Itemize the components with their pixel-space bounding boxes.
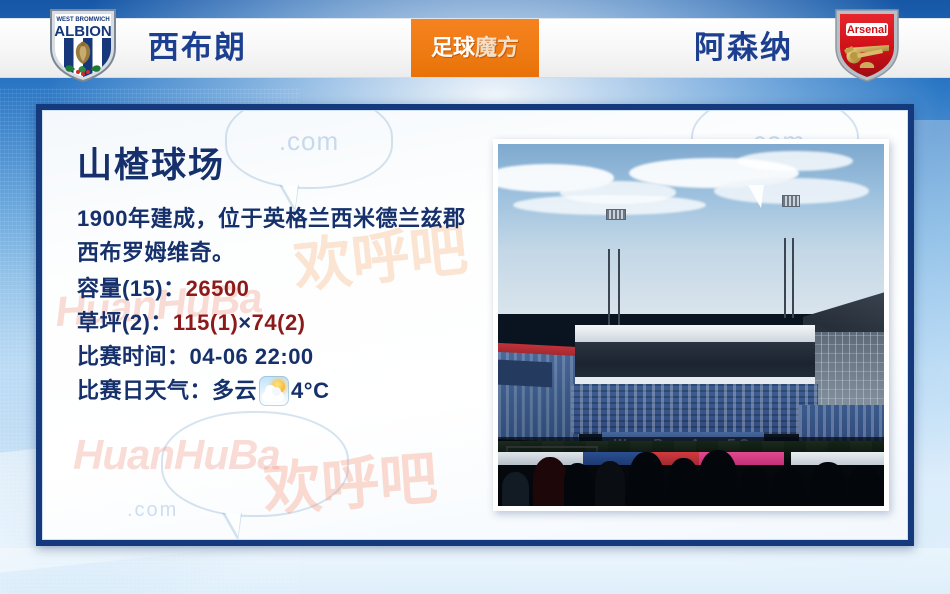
photo-left-stand-shadow: [498, 360, 552, 388]
kickoff-time-value: 04-06 22:00: [190, 344, 314, 369]
watermark-domain: .com: [127, 499, 178, 522]
floodlight-head: [782, 195, 800, 207]
spectator-silhouette: [741, 465, 768, 506]
pitch-size-row: 草坪(2)：115(1)×74(2): [77, 306, 477, 340]
photo-main-stand-shade: [575, 342, 814, 378]
floodlight-mast: [792, 238, 794, 318]
spectator-silhouette: [629, 452, 664, 506]
pitch-size-label: 草坪(2)：: [77, 310, 173, 335]
floodlight-mast: [608, 249, 610, 336]
pitch-size-separator: ×: [238, 310, 251, 335]
spectator-silhouette: [849, 466, 880, 506]
floodlight-mast: [618, 249, 620, 336]
site-logo-text-a: 足球: [431, 35, 475, 60]
match-header: WEST BROMWICH ALBION 西布朗 足球魔方 阿森纳: [0, 0, 950, 88]
arsenal-crest-icon[interactable]: Arsenal: [826, 4, 908, 84]
west-bromwich-albion-crest-icon[interactable]: WEST BROMWICH ALBION: [42, 4, 124, 84]
partly-cloudy-icon: [259, 376, 289, 406]
matchday-weather-row: 比赛日天气：多云4°C: [77, 374, 477, 408]
svg-text:ALBION: ALBION: [54, 23, 112, 40]
floodlight-head: [606, 209, 626, 220]
advertising-board: [791, 452, 884, 464]
photo-sky: [498, 144, 884, 314]
capacity-label: 容量(15)：: [77, 276, 186, 301]
site-logo[interactable]: 足球魔方: [411, 19, 539, 77]
weather-label: 比赛日天气：: [77, 374, 212, 408]
stadium-info-panel: .com .com HuanHuBa HuanHuBa HuanHuBa .co…: [36, 104, 914, 546]
spectator-silhouette: [811, 462, 846, 506]
photo-main-stand-roof: [575, 325, 814, 342]
stadium-photo-frame[interactable]: W B A FC: [493, 139, 889, 511]
weather-condition: 多云: [212, 374, 257, 408]
home-team-name: 西布朗: [148, 24, 247, 72]
stadium-photo: W B A FC: [498, 144, 884, 506]
pitch-width-value: 74(2): [252, 310, 306, 335]
kickoff-time-label: 比赛时间：: [77, 344, 190, 369]
spectator-silhouette: [533, 457, 568, 507]
site-logo-text-b: 魔方: [475, 35, 519, 60]
spectator-silhouette: [772, 468, 803, 506]
away-team-name: 阿森纳: [694, 24, 793, 72]
spectator-silhouette: [502, 472, 529, 506]
stadium-description: 1900年建成，位于英格兰西米德兰兹郡西布罗姆维奇。: [77, 202, 479, 270]
stadium-name: 山楂球场: [77, 147, 477, 186]
watermark-brand-cn: 欢呼吧: [260, 431, 439, 527]
kickoff-time-row: 比赛时间：04-06 22:00: [77, 340, 477, 374]
pitch-length-value: 115(1): [173, 310, 238, 335]
background-bottom-sheen: [0, 548, 950, 594]
svg-text:Arsenal: Arsenal: [847, 24, 887, 36]
site-logo-text: 足球魔方: [431, 37, 519, 59]
spectator-silhouette: [668, 458, 699, 506]
capacity-row: 容量(15)：26500: [77, 272, 477, 306]
stadium-info-panel-inner: .com .com HuanHuBa HuanHuBa HuanHuBa .co…: [42, 110, 908, 540]
photo-foreground-crowd: [498, 437, 884, 506]
watermark-brand-latin: HuanHuBa: [73, 431, 280, 479]
spectator-silhouette: [699, 450, 738, 506]
spectator-silhouette: [595, 461, 626, 506]
weather-temperature: 4°C: [291, 374, 329, 408]
stadium-info-text: 山楂球场 1900年建成，位于英格兰西米德兰兹郡西布罗姆维奇。 容量(15)：2…: [77, 147, 477, 408]
floodlight-mast: [784, 238, 786, 318]
watermark-bubble: [161, 411, 349, 517]
capacity-value: 26500: [186, 276, 250, 301]
photo-main-stand-seats: [571, 384, 818, 435]
spectator-silhouette: [564, 463, 591, 506]
